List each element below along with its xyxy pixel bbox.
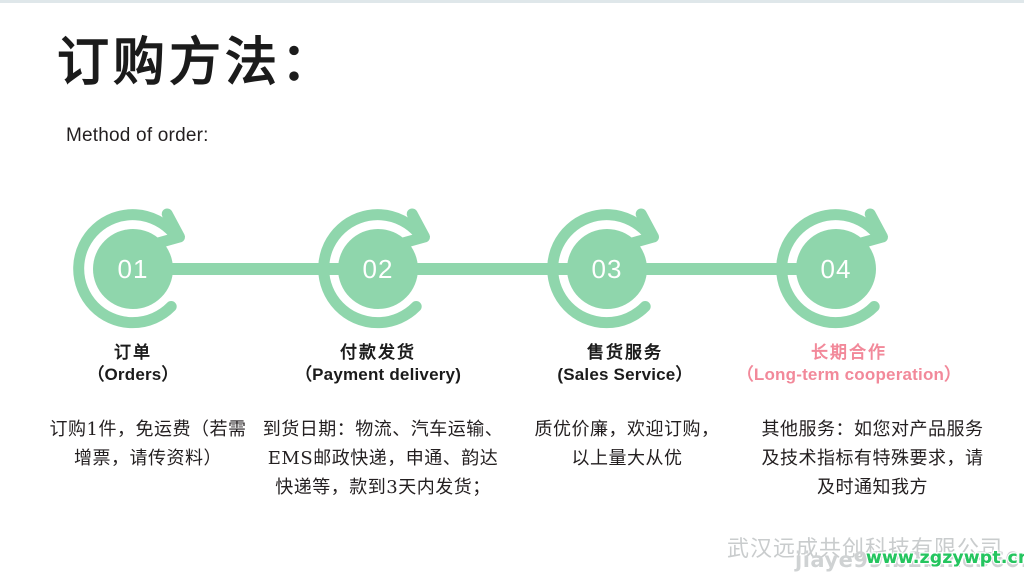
step-marker-04: 04 (782, 214, 883, 323)
step-marker-03: 03 (553, 214, 654, 323)
step-label-en-01: （Orders） (8, 364, 258, 387)
step-number-04: 04 (821, 254, 852, 284)
step-label-en-02: （Payment delivery) (253, 364, 503, 387)
step-label-03: 售货服务 (Sales Service） (500, 343, 750, 387)
step-label-04: 长期合作 （Long-term cooperation） (724, 343, 974, 387)
page-title-cn: 订购方法： (57, 37, 337, 89)
watermark-site-green: www.zgzywpt.cn (866, 548, 1024, 568)
step-label-cn-03: 售货服务 (500, 343, 750, 364)
step-label-en-03: (Sales Service） (500, 364, 750, 387)
slide-canvas: 订购方法： Method of order: (0, 0, 1024, 576)
step-label-01: 订单 （Orders） (8, 343, 258, 387)
step-label-en-04: （Long-term cooperation） (724, 364, 974, 387)
step-number-03: 03 (592, 254, 623, 284)
step-label-02: 付款发货 （Payment delivery) (253, 343, 503, 387)
step-body-03: 质优价廉，欢迎订购，以上量大从优 (527, 415, 727, 473)
step-number-01: 01 (118, 254, 149, 284)
step-marker-02: 02 (324, 214, 425, 323)
step-marker-01: 01 (79, 214, 180, 323)
step-label-cn-02: 付款发货 (253, 343, 503, 364)
connector-bars (133, 263, 836, 275)
step-body-04: 其他服务：如您对产品服务及技术指标有特殊要求，请及时通知我方 (760, 415, 985, 502)
step-label-cn-01: 订单 (8, 343, 258, 364)
step-body-01: 订购1件，免运费（若需增票，请传资料） (42, 415, 254, 473)
step-body-02: 到货日期：物流、汽车运输、EMS邮政快递，申通、韵达快递等，款到3天内发货； (262, 415, 504, 502)
process-diagram: 01 02 03 04 (0, 171, 1024, 331)
step-number-02: 02 (363, 254, 394, 284)
page-title-en: Method of order: (66, 125, 209, 147)
step-labels: 订单 （Orders） 付款发货 （Payment delivery) 售货服务… (0, 343, 1024, 401)
step-label-cn-04: 长期合作 (724, 343, 974, 364)
